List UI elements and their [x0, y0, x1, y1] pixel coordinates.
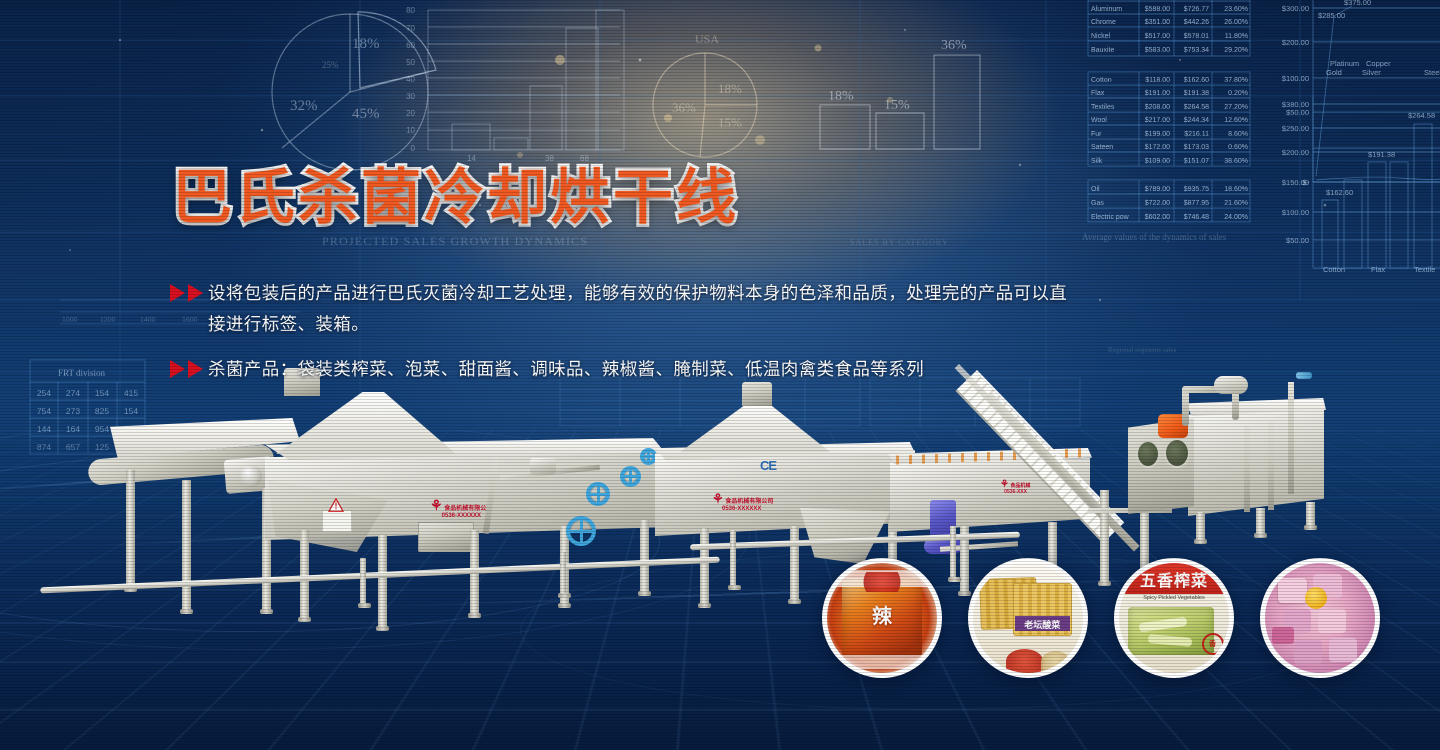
pipe-valve-handle [1296, 372, 1312, 379]
svg-text:50: 50 [406, 58, 415, 67]
svg-text:20: 20 [406, 109, 415, 118]
product-circle-spicy-pickle-pouch[interactable]: 辣 [822, 558, 942, 678]
svg-text:0.60%: 0.60% [1228, 144, 1248, 151]
svg-text:$250.00: $250.00 [1282, 124, 1309, 133]
svg-text:$162.60: $162.60 [1184, 77, 1209, 84]
vertical-riser-pipe [1244, 426, 1250, 512]
svg-text:$216.11: $216.11 [1184, 131, 1209, 138]
inspection-window [1164, 438, 1190, 468]
svg-text:$726.77: $726.77 [1184, 6, 1209, 13]
product-circle-five-spice-mustard[interactable]: 五香榨菜 Spicy Pickled Vegetables 香 [1114, 558, 1234, 678]
exhaust-hood [276, 392, 456, 454]
rail-post [560, 552, 566, 594]
double-right-arrow-icon [168, 278, 208, 303]
svg-text:PROJECTED SALES GROWTH DYNAMIC: PROJECTED SALES GROWTH DYNAMICS [322, 234, 588, 248]
svg-text:Cotton: Cotton [1323, 265, 1345, 274]
svg-text:$50.00: $50.00 [1286, 108, 1309, 117]
svg-text:$264.58: $264.58 [1184, 104, 1209, 111]
valve-handwheel [640, 448, 657, 465]
access-panel [418, 522, 474, 552]
svg-text:$191.00: $191.00 [1145, 90, 1170, 97]
svg-text:Gas: Gas [1091, 200, 1104, 207]
page-title: 巴氏杀菌冷却烘干线 [172, 168, 739, 228]
svg-text:$109.00: $109.00 [1145, 158, 1170, 165]
svg-text:$753.34: $753.34 [1184, 47, 1209, 54]
svg-text:40: 40 [406, 75, 415, 84]
machine-leg [126, 470, 135, 588]
drying-tunnel-body [1188, 408, 1324, 516]
machine-leg [1196, 512, 1205, 540]
list-item-text: 杀菌产品：袋装类榨菜、泡菜、甜面酱、调味品、辣椒酱、腌制菜、低温肉禽类食品等系列 [208, 354, 924, 385]
svg-text:36%: 36% [941, 38, 967, 53]
svg-text:$244.34: $244.34 [1184, 117, 1209, 124]
svg-text:38: 38 [545, 154, 554, 163]
machine-leg [790, 526, 799, 600]
svg-text:$583.00: $583.00 [1145, 47, 1170, 54]
svg-text:18%: 18% [718, 81, 742, 96]
ce-mark-icon: CE [760, 458, 776, 473]
svg-text:68: 68 [580, 154, 589, 163]
svg-text:$300.00: $300.00 [1282, 4, 1309, 13]
svg-text:15%: 15% [718, 115, 742, 130]
svg-text:$100.00: $100.00 [1282, 74, 1309, 83]
machine-leg [182, 480, 191, 610]
svg-text:Sateen: Sateen [1091, 144, 1113, 151]
svg-text:$351.00: $351.00 [1145, 19, 1170, 26]
svg-text:Wool: Wool [1091, 117, 1107, 124]
valve-handwheel [566, 516, 596, 546]
svg-text:$935.75: $935.75 [1184, 186, 1209, 193]
svg-text:Aluminum: Aluminum [1091, 6, 1122, 13]
svg-text:$118.00: $118.00 [1145, 77, 1170, 84]
svg-text:0.20%: 0.20% [1228, 90, 1248, 97]
svg-text:$162.60: $162.60 [1326, 188, 1353, 197]
svg-text:Cotton: Cotton [1091, 77, 1112, 84]
svg-text:$100.00: $100.00 [1282, 208, 1309, 217]
svg-text:$877.95: $877.95 [1184, 200, 1209, 207]
safety-placard [322, 510, 352, 532]
svg-text:38.60%: 38.60% [1224, 158, 1248, 165]
svg-text:Nickel: Nickel [1091, 33, 1111, 40]
svg-text:18%: 18% [828, 89, 854, 104]
svg-text:$173.03: $173.03 [1184, 144, 1209, 151]
svg-text:$191.38: $191.38 [1184, 90, 1209, 97]
double-right-arrow-icon [168, 354, 208, 379]
svg-text:Electric pow: Electric pow [1091, 214, 1130, 221]
svg-text:Silver: Silver [1362, 68, 1381, 77]
svg-text:1000: 1000 [62, 317, 78, 324]
svg-text:Copper: Copper [1366, 59, 1391, 68]
svg-text:Steel: Steel [1424, 68, 1440, 77]
svg-text:30: 30 [406, 92, 415, 101]
svg-text:$602.00: $602.00 [1145, 214, 1170, 221]
svg-text:$442.26: $442.26 [1184, 19, 1209, 26]
svg-text:10: 10 [406, 126, 415, 135]
valve-handwheel [620, 466, 641, 487]
svg-text:27.20%: 27.20% [1224, 104, 1248, 111]
svg-text:23.60%: 23.60% [1224, 6, 1248, 13]
svg-text:Bauxite: Bauxite [1091, 47, 1114, 54]
pipe-elbow [1214, 376, 1248, 394]
svg-text:29.20%: 29.20% [1224, 47, 1248, 54]
svg-text:$200.00: $200.00 [1282, 38, 1309, 47]
svg-text:$578.01: $578.01 [1184, 33, 1209, 40]
svg-text:1200: 1200 [100, 317, 116, 324]
svg-text:$172.00: $172.00 [1145, 144, 1170, 151]
svg-text:$746.48: $746.48 [1184, 214, 1209, 221]
exhaust-hood [680, 402, 830, 452]
warning-triangle-icon [328, 498, 344, 512]
svg-text:$789.00: $789.00 [1145, 186, 1170, 193]
svg-text:11.80%: 11.80% [1225, 33, 1248, 40]
svg-text:SALES BY CATEGORY: SALES BY CATEGORY [850, 238, 949, 247]
svg-text:$722.00: $722.00 [1145, 200, 1170, 207]
list-item: 杀菌产品：袋装类榨菜、泡菜、甜面酱、调味品、辣椒酱、腌制菜、低温肉禽类食品等系列 [168, 354, 1068, 385]
rail-post [950, 526, 956, 578]
pipe-flange [530, 458, 556, 474]
svg-text:$208.00: $208.00 [1145, 104, 1170, 111]
svg-text:Gold: Gold [1326, 68, 1342, 77]
banner-root: 18% 32% 45% 25% 80 70 60 [0, 0, 1440, 750]
svg-text:37.80%: 37.80% [1224, 77, 1248, 84]
machine-leg [1306, 502, 1315, 526]
svg-text:$200.00: $200.00 [1282, 148, 1309, 157]
svg-text:$151.07: $151.07 [1184, 158, 1209, 165]
svg-text:Chrome: Chrome [1091, 19, 1116, 26]
product-circle-pickled-cabbage-box[interactable]: 老坛酸菜 [968, 558, 1088, 678]
svg-text:Flax: Flax [1091, 90, 1105, 97]
svg-text:USA: USA [695, 32, 719, 46]
svg-text:18.60%: 18.60% [1224, 186, 1248, 193]
svg-text:Average values of the dynamics: Average values of the dynamics of sales [1082, 232, 1227, 242]
brand-decal: ⚘ 食品机械有限公司 0536-XXXXXX [430, 502, 492, 519]
svg-text:Silk: Silk [1091, 158, 1103, 165]
svg-text:$285.00: $285.00 [1318, 11, 1345, 20]
svg-text:36%: 36% [672, 100, 696, 115]
svg-text:$375.00: $375.00 [1344, 0, 1371, 7]
feature-bullet-list: 设将包装后的产品进行巴氏灭菌冷却工艺处理，能够有效的保护物料本身的色泽和品质，处… [168, 278, 1068, 399]
vertical-riser-pipe [1268, 422, 1274, 510]
machine-leg [378, 535, 387, 627]
svg-text:24.00%: 24.00% [1224, 214, 1248, 221]
vertical-riser-pipe [1288, 382, 1294, 494]
inspection-window [1136, 440, 1160, 468]
svg-text:Textile: Textile [1414, 265, 1435, 274]
svg-text:$217.00: $217.00 [1145, 117, 1170, 124]
svg-text:Textiles: Textiles [1091, 104, 1115, 111]
svg-text:Fur: Fur [1091, 131, 1102, 138]
svg-text:14: 14 [467, 154, 476, 163]
svg-text:25%: 25% [322, 60, 339, 70]
valve-handwheel [586, 482, 610, 506]
svg-text:Flax: Flax [1371, 265, 1385, 274]
svg-text:21.60%: 21.60% [1224, 200, 1248, 207]
machine-leg [700, 528, 709, 604]
svg-text:Oil: Oil [1091, 186, 1100, 193]
machine-leg [1256, 508, 1265, 534]
rail-post [360, 558, 366, 604]
svg-text:$588.00: $588.00 [1145, 6, 1170, 13]
svg-text:32%: 32% [290, 98, 318, 114]
svg-text:0: 0 [411, 144, 416, 153]
svg-text:45%: 45% [352, 106, 380, 122]
product-circle-candy-packs[interactable] [1260, 558, 1380, 678]
svg-text:26.00%: 26.00% [1224, 19, 1248, 26]
overhead-pipe [1182, 388, 1189, 426]
svg-text:8.60%: 8.60% [1228, 131, 1248, 138]
svg-text:1400: 1400 [140, 317, 156, 324]
rail-post [730, 530, 736, 586]
svg-text:$264.58: $264.58 [1408, 111, 1435, 120]
svg-text:70: 70 [406, 24, 415, 33]
svg-text:60: 60 [406, 41, 415, 50]
svg-text:$517.00: $517.00 [1145, 33, 1170, 40]
svg-text:$50.00: $50.00 [1286, 236, 1309, 245]
list-item-text: 设将包装后的产品进行巴氏灭菌冷却工艺处理，能够有效的保护物料本身的色泽和品质，处… [208, 278, 1068, 340]
svg-text:$380.00: $380.00 [1282, 100, 1309, 109]
svg-text:$191.38: $191.38 [1368, 150, 1395, 159]
machine-leg [300, 530, 309, 618]
svg-text:12.60%: 12.60% [1224, 117, 1248, 124]
svg-text:18%: 18% [352, 36, 380, 52]
list-item: 设将包装后的产品进行巴氏灭菌冷却工艺处理，能够有效的保护物料本身的色泽和品质，处… [168, 278, 1068, 340]
conveyor-leg [1100, 490, 1109, 582]
svg-text:$199.00: $199.00 [1145, 131, 1170, 138]
svg-text:Platinum: Platinum [1330, 59, 1359, 68]
discharge-chute [800, 508, 890, 564]
brand-decal: ⚘ 食品机械有限公司 0536-XXXXXX [712, 496, 773, 512]
machine-leg [640, 520, 649, 592]
svg-text:80: 80 [406, 6, 415, 15]
svg-text:$150.00: $150.00 [1282, 178, 1309, 187]
